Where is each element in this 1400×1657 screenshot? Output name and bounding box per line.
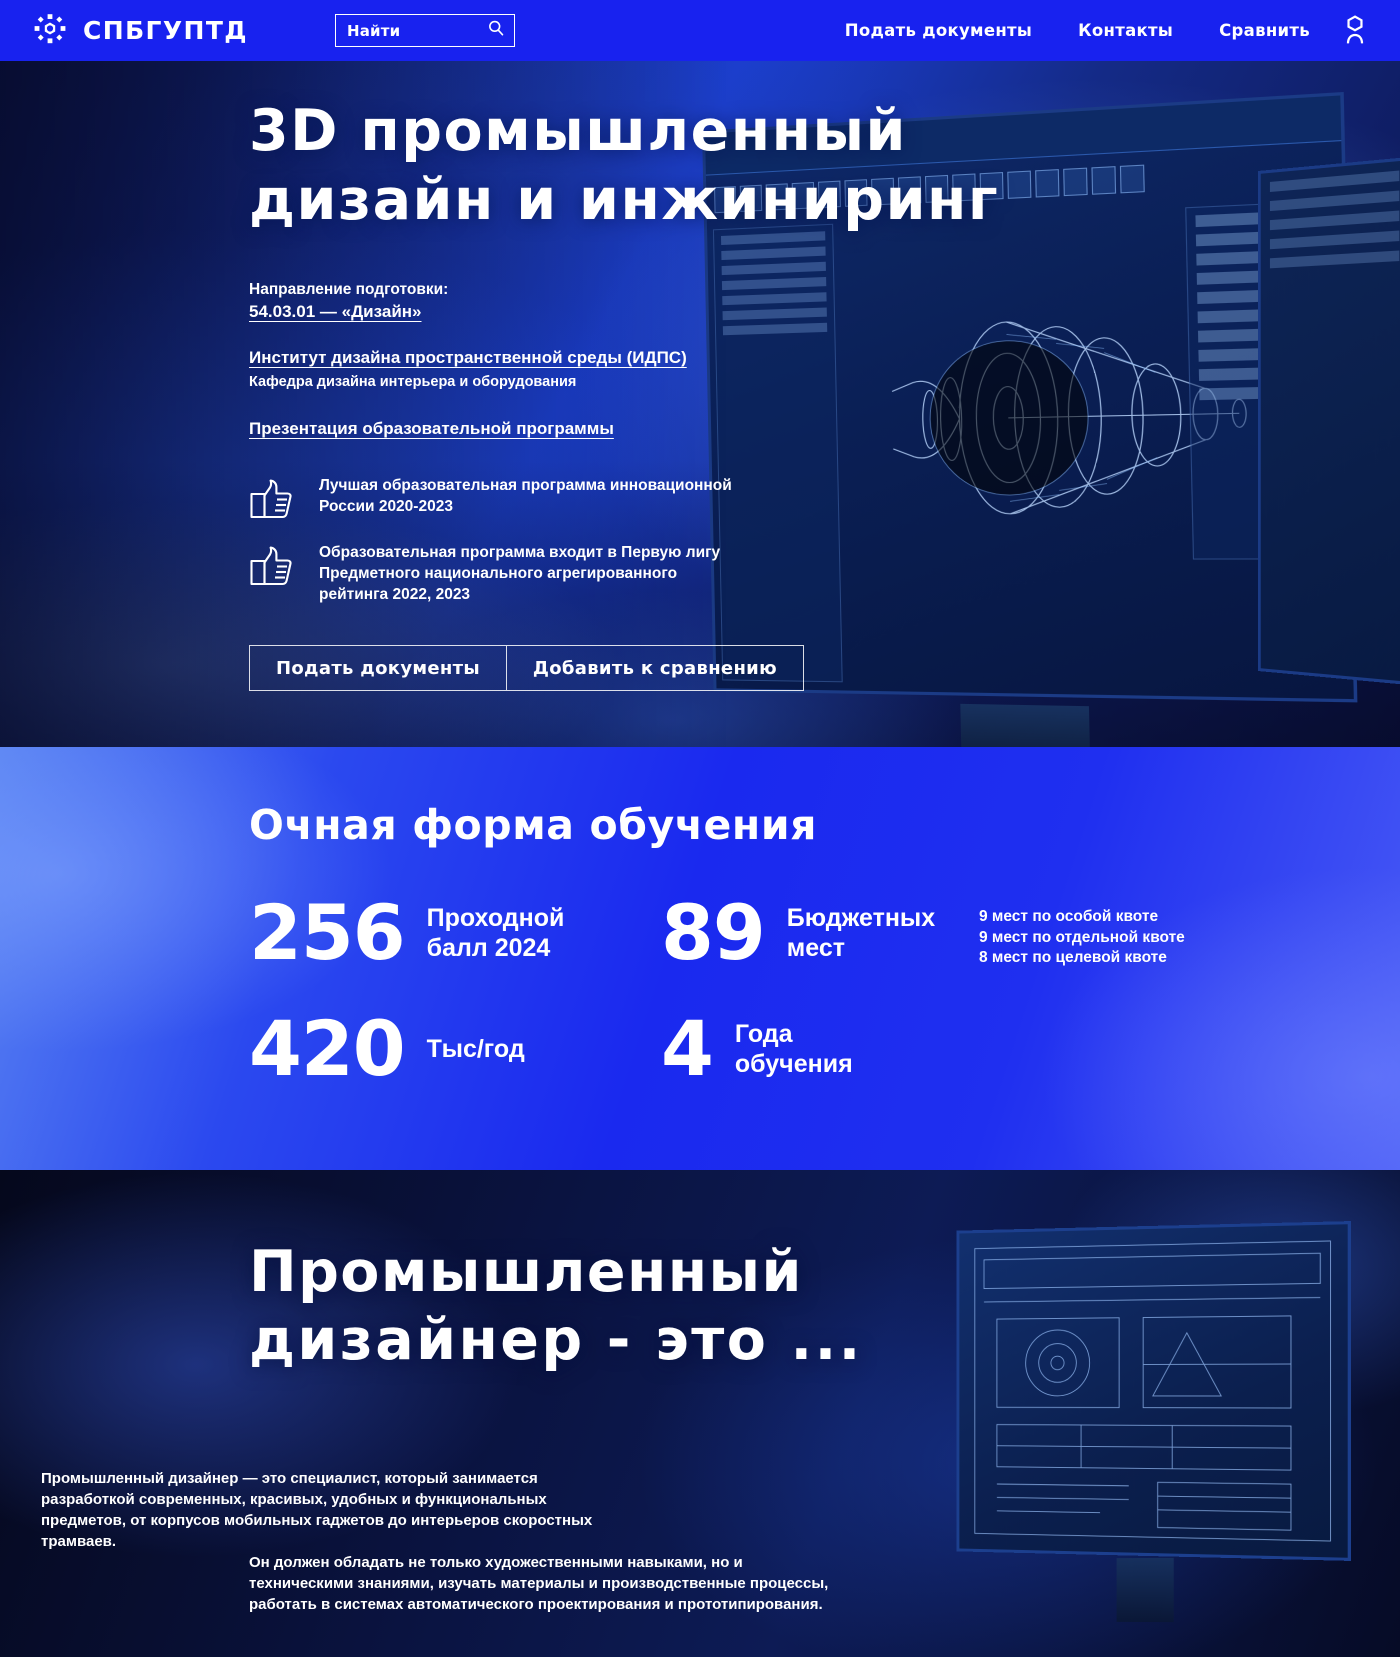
stat-number: 4	[661, 1011, 713, 1087]
stats-section: Очная форма обучения 256 Проходной балл …	[0, 747, 1400, 1170]
stat-label: Года обучения	[735, 1019, 853, 1079]
about-content: Промышленный дизайнер - это ...	[0, 1170, 1400, 1374]
page-root: СПБГУПТД Подать документы Контакты Сравн…	[0, 0, 1400, 1657]
stat-label: Бюджетных мест	[787, 903, 935, 963]
nav-item-apply[interactable]: Подать документы	[845, 21, 1032, 40]
nav-item-contacts[interactable]: Контакты	[1078, 21, 1173, 40]
gear-sun-logo-icon	[30, 11, 70, 51]
hero-cta-row: Подать документы Добавить к сравнению	[249, 645, 1400, 691]
about-monitor-stand	[1117, 1558, 1174, 1622]
brand-name: СПБГУПТД	[83, 16, 248, 45]
award-item: Образовательная программа входит в Перву…	[249, 542, 1400, 605]
stat-item-passing-score: 256 Проходной балл 2024	[249, 895, 661, 971]
main-navigation: Подать документы Контакты Сравнить	[845, 21, 1366, 40]
stat-label: Тыс/год	[427, 1034, 525, 1064]
stat-number: 256	[249, 895, 405, 971]
direction-code-link[interactable]: 54.03.01 — «Дизайн»	[249, 300, 422, 324]
stats-content: Очная форма обучения 256 Проходной балл …	[0, 747, 1400, 1087]
monitor-stand	[960, 704, 1090, 747]
apply-documents-button[interactable]: Подать документы	[249, 645, 507, 691]
thumbs-up-icon	[249, 478, 297, 520]
stat-number: 89	[661, 895, 765, 971]
stat-item-tuition: 420 Тыс/год	[249, 1011, 661, 1087]
award-text: Образовательная программа входит в Перву…	[319, 542, 739, 605]
quota-item: 9 мест по особой квоте	[979, 907, 1400, 928]
hero-title-line2: дизайн и инжиниринг	[249, 166, 1009, 235]
stat-number: 420	[249, 1011, 405, 1087]
about-paragraph-1: Промышленный дизайнер — это специалист, …	[41, 1468, 621, 1552]
add-to-compare-button[interactable]: Добавить к сравнению	[507, 645, 804, 691]
thumbs-up-icon	[249, 545, 297, 587]
nav-item-compare[interactable]: Сравнить	[1219, 21, 1310, 40]
about-paragraph-2: Он должен обладать не только художествен…	[249, 1552, 849, 1615]
quota-list: 9 мест по особой квоте 9 мест по отдельн…	[979, 895, 1400, 969]
award-item: Лучшая образовательная программа инновац…	[249, 475, 1400, 520]
institute-link[interactable]: Институт дизайна пространственной среды …	[249, 346, 687, 370]
quota-item: 8 мест по целевой квоте	[979, 948, 1400, 969]
about-title: Промышленный дизайнер - это ...	[249, 1238, 1400, 1374]
about-title-line1: Промышленный	[249, 1239, 803, 1305]
department-name: Кафедра дизайна интерьера и оборудования	[249, 371, 1400, 393]
direction-label: Направление подготовки:	[249, 279, 1400, 300]
stat-item-budget-places: 89 Бюджетных мест	[661, 895, 979, 971]
brand-logo[interactable]: СПБГУПТД	[30, 11, 248, 51]
program-meta: Направление подготовки: 54.03.01 — «Диза…	[249, 279, 1400, 441]
about-title-line2: дизайнер - это ...	[249, 1306, 1400, 1374]
search-input[interactable]	[347, 22, 487, 40]
search-box[interactable]	[335, 14, 515, 47]
site-header: СПБГУПТД Подать документы Контакты Сравн…	[0, 0, 1400, 61]
stats-title: Очная форма обучения	[249, 801, 1400, 849]
presentation-link[interactable]: Презентация образовательной программы	[249, 417, 614, 441]
hero-title-line1: 3D промышленный	[249, 98, 907, 164]
hero-content: 3D промышленный дизайн и инжиниринг Напр…	[0, 61, 1400, 691]
stats-grid: 256 Проходной балл 2024 89 Бюджетных мес…	[249, 895, 1400, 1087]
about-section: Промышленный дизайнер - это ... Промышле…	[0, 1170, 1400, 1657]
hero-section: 3D промышленный дизайн и инжиниринг Напр…	[0, 61, 1400, 747]
quota-item: 9 мест по отдельной квоте	[979, 928, 1400, 949]
awards-list: Лучшая образовательная программа инновац…	[249, 475, 1400, 605]
stat-item-duration: 4 Года обучения	[661, 1011, 979, 1087]
user-account-icon[interactable]	[1340, 11, 1370, 49]
search-icon[interactable]	[487, 19, 505, 42]
hero-title: 3D промышленный дизайн и инжиниринг	[249, 97, 1009, 235]
award-text: Лучшая образовательная программа инновац…	[319, 475, 739, 517]
stat-label: Проходной балл 2024	[427, 903, 565, 963]
